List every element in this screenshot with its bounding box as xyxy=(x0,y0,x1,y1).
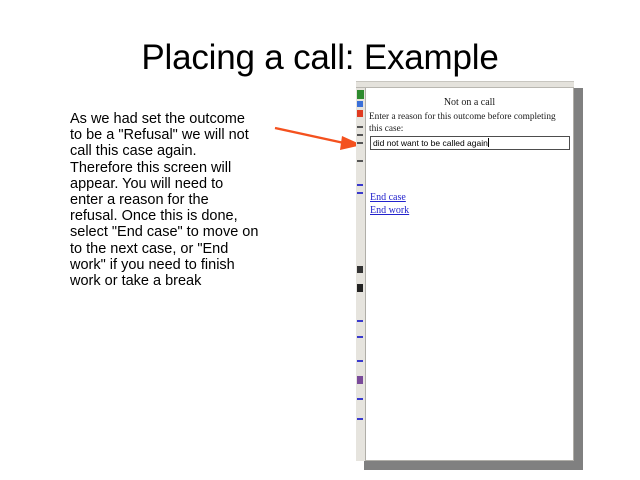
window-content-area: Not on a call Enter a reason for this ou… xyxy=(365,88,574,461)
page-title: Placing a call: Example xyxy=(0,38,640,78)
reason-instruction-text: Enter a reason for this outcome before c… xyxy=(369,112,571,135)
slide-body-text: As we had set the outcome to be a "Refus… xyxy=(70,111,260,289)
sliver-fragment xyxy=(357,192,363,194)
text-caret xyxy=(488,138,489,147)
reason-input[interactable]: did not want to be called again xyxy=(370,136,570,150)
sliver-fragment xyxy=(357,110,363,117)
not-on-a-call-heading: Not on a call xyxy=(366,97,573,108)
sliver-fragment xyxy=(357,284,363,292)
sliver-fragment xyxy=(357,360,363,362)
annotation-arrow-icon xyxy=(272,118,364,154)
sliver-fragment xyxy=(357,90,364,99)
sliver-fragment xyxy=(357,376,363,384)
reason-input-value: did not want to be called again xyxy=(373,138,488,148)
window-shadow-bottom xyxy=(364,461,583,470)
sliver-fragment xyxy=(357,336,363,338)
window-shadow-right xyxy=(574,88,583,465)
sliver-fragment xyxy=(357,266,363,273)
sliver-fragment xyxy=(357,126,363,128)
window-title-bar xyxy=(356,81,574,88)
sliver-fragment xyxy=(357,134,363,136)
sliver-fragment xyxy=(357,320,363,322)
background-window-sliver xyxy=(356,88,365,461)
sliver-fragment xyxy=(357,398,363,400)
end-work-link[interactable]: End work xyxy=(370,204,409,217)
sliver-fragment xyxy=(357,184,363,186)
sliver-fragment xyxy=(357,142,363,144)
sliver-fragment xyxy=(357,101,363,107)
sliver-fragment xyxy=(357,160,363,162)
embedded-screenshot-window: Not on a call Enter a reason for this ou… xyxy=(356,81,574,461)
end-case-link[interactable]: End case xyxy=(370,191,406,204)
slide-canvas: Placing a call: Example As we had set th… xyxy=(0,0,640,480)
sliver-fragment xyxy=(357,418,363,420)
action-links-group: End case End work xyxy=(370,191,490,217)
